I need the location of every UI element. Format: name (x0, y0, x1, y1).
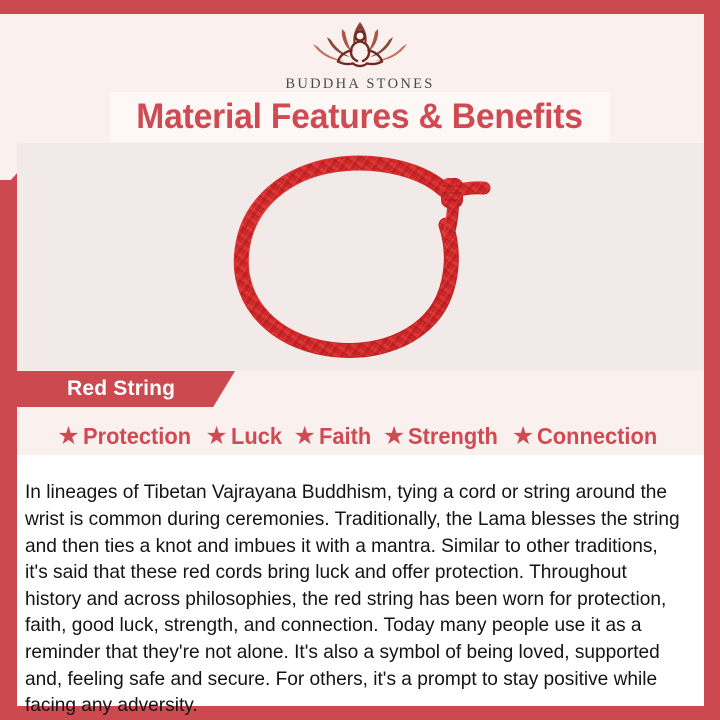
product-image-stage (17, 143, 704, 370)
benefit-item: ★ Luck (205, 423, 284, 450)
product-label-banner: Red String (17, 371, 235, 407)
star-icon: ★ (512, 424, 534, 449)
description-text: In lineages of Tibetan Vajrayana Buddhis… (25, 479, 685, 718)
product-label: Red String (67, 377, 175, 401)
lotus-meditation-figure-icon (301, 16, 419, 74)
benefit-label: Luck (231, 423, 282, 450)
benefit-item: ★ Protection (57, 423, 196, 450)
benefit-item: ★ Faith (293, 423, 373, 450)
description-panel: In lineages of Tibetan Vajrayana Buddhis… (17, 455, 704, 706)
benefit-label: Faith (319, 423, 371, 450)
star-icon: ★ (383, 424, 405, 449)
brand-logo: BUDDHA STONES (0, 16, 720, 93)
benefit-label: Protection (83, 423, 191, 450)
red-braided-cord-bracelet-icon (222, 153, 502, 363)
title-banner: Material Features & Benefits (110, 92, 610, 142)
brand-wordmark: BUDDHA STONES (0, 76, 720, 93)
frame-left-border (0, 180, 17, 720)
frame-top-border (0, 0, 720, 14)
star-icon: ★ (205, 424, 227, 449)
benefit-label: Connection (537, 423, 657, 450)
star-icon: ★ (57, 424, 79, 449)
page-title: Material Features & Benefits (137, 97, 584, 137)
benefits-row: ★ Protection ★ Luck ★ Faith ★ Strength ★… (17, 418, 704, 455)
frame-right-border (704, 0, 720, 720)
benefit-label: Strength (408, 423, 498, 450)
infographic-page: BUDDHA STONES Material Features & Benefi… (0, 0, 720, 720)
benefit-item: ★ Strength (383, 423, 503, 450)
star-icon: ★ (293, 424, 315, 449)
benefit-item: ★ Connection (512, 423, 664, 450)
